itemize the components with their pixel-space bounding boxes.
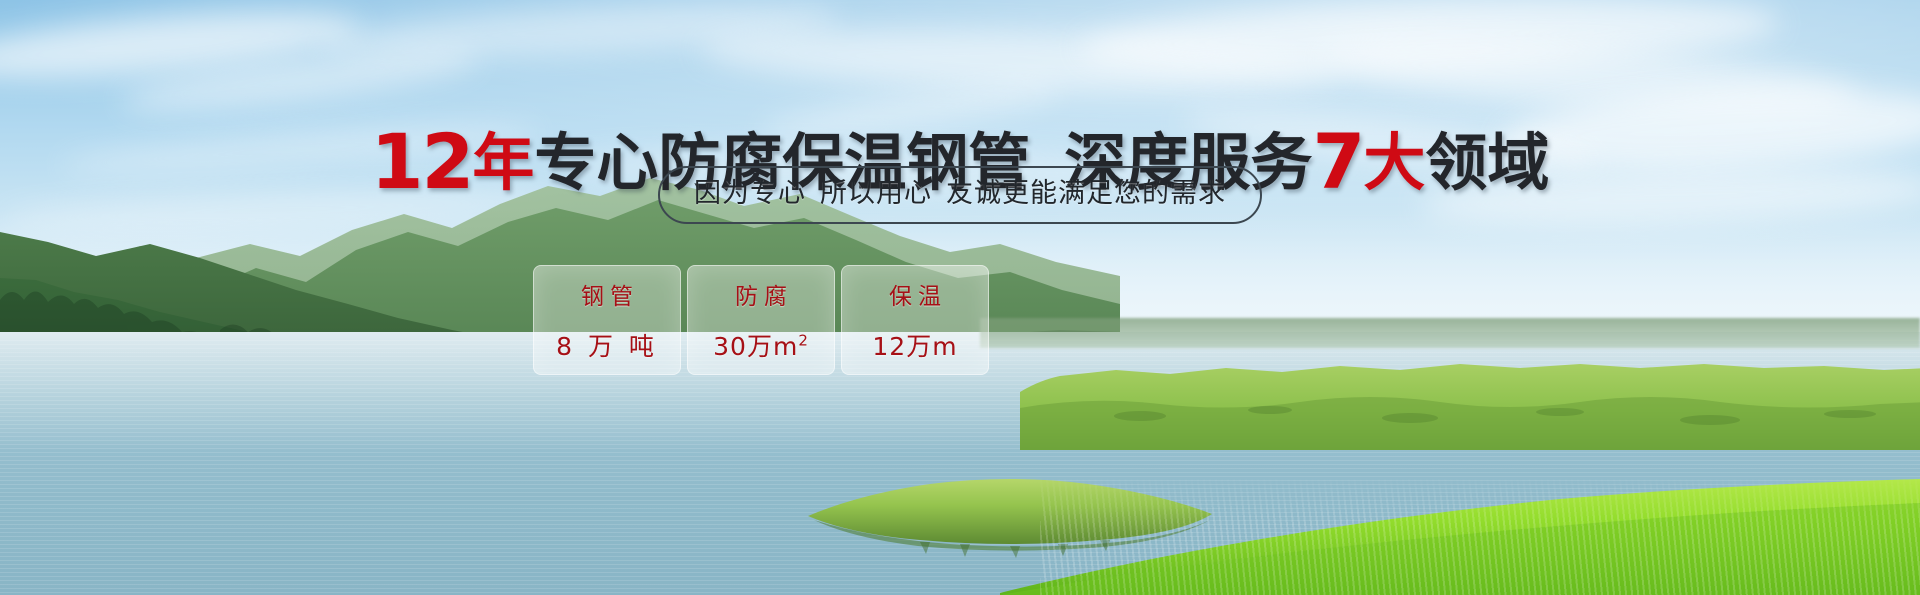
stat-card-value: 30万m2 (713, 327, 809, 363)
stat-card-title: 钢管 (575, 277, 639, 311)
stat-card-steel-pipe: 钢管 8 万 吨 (533, 265, 681, 375)
subtitle-part-1: 因为专心 (694, 178, 806, 209)
subtitle-part-3: 友诚更能满足您的需求 (946, 178, 1226, 209)
subtitle-part-2: 所以用心 (820, 178, 932, 209)
stat-card-anticorrosion: 防腐 30万m2 (687, 265, 835, 375)
stat-card-title: 防腐 (729, 277, 793, 311)
stat-card-insulation: 保温 12万m (841, 265, 989, 375)
stat-card-superscript: 2 (798, 332, 809, 350)
stat-card-title: 保温 (883, 277, 947, 311)
stat-card-value: 12万m (872, 327, 957, 363)
stat-card-value: 8 万 吨 (556, 327, 658, 363)
marsh-flats (1020, 330, 1920, 450)
foreground-grass (1000, 445, 1920, 595)
stat-cards: 钢管 8 万 吨 防腐 30万m2 保温 12万m (533, 265, 989, 375)
banner-subtitle-container: 因为专心所以用心友诚更能满足您的需求 (0, 166, 1920, 224)
banner-subtitle-pill: 因为专心所以用心友诚更能满足您的需求 (658, 166, 1262, 224)
stat-card-value-text: 8 万 吨 (556, 332, 658, 361)
stat-card-value-text: 30万m (713, 332, 798, 361)
promo-banner: 12年专心防腐保温钢管深度服务7大领域 因为专心所以用心友诚更能满足您的需求 钢… (0, 0, 1920, 595)
stat-card-value-text: 12万m (872, 332, 957, 361)
